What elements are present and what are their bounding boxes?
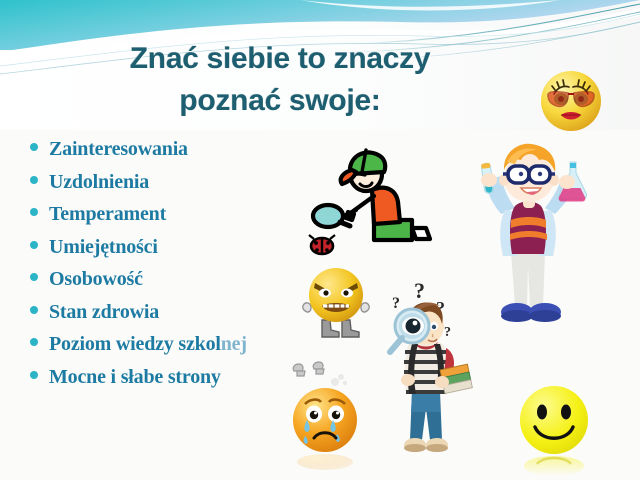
list-item-label: Mocne i słabe strony — [49, 366, 221, 389]
svg-text:?: ? — [444, 325, 451, 340]
list-item: Temperament — [30, 203, 330, 236]
list-item-label: Uzdolnienia — [49, 171, 149, 194]
slide-title-line1: Znać siebie to znaczy — [130, 42, 430, 75]
svg-text:?: ? — [414, 278, 425, 303]
list-item-label: Umiejętności — [49, 236, 158, 259]
list-item-label: Osobowość — [49, 268, 143, 291]
svg-text:?: ? — [392, 295, 400, 312]
list-item: Stan zdrowia — [30, 301, 330, 334]
list-item-label: Poziom wiedzy szkolnej — [49, 333, 247, 356]
list-item: Uzdolnienia — [30, 171, 330, 204]
list-item-label: Stan zdrowia — [49, 301, 159, 324]
happy-face-illustration — [512, 380, 596, 476]
list-item: Umiejętności — [30, 236, 330, 269]
list-item-label: Temperament — [49, 203, 166, 226]
bullet-dot-icon — [30, 338, 38, 346]
slide-title: Znać siebie to znaczy poznać swoje: — [40, 38, 520, 122]
bullet-dot-icon — [30, 371, 38, 379]
bullet-dot-icon — [30, 306, 38, 314]
slide-title-line2: poznać swoje: — [40, 80, 520, 122]
bullet-dot-icon — [30, 143, 38, 151]
sunglasses-face-illustration — [538, 68, 604, 134]
slide-canvas: Znać siebie to znaczy poznać swoje: Zain… — [0, 0, 640, 480]
list-item: Zainteresowania — [30, 138, 330, 171]
question-boy-illustration: ? ? ? ? — [382, 282, 488, 462]
list-item: Osobowość — [30, 268, 330, 301]
list-item: Mocne i słabe strony — [30, 366, 330, 399]
list-item-label: Zainteresowania — [49, 138, 188, 161]
bullet-dot-icon — [30, 208, 38, 216]
bullet-list: Zainteresowania Uzdolnienia Temperament … — [30, 138, 330, 398]
list-item: Poziom wiedzy szkolnej — [30, 333, 330, 366]
bullet-dot-icon — [30, 273, 38, 281]
bullet-dot-icon — [30, 241, 38, 249]
bullet-dot-icon — [30, 176, 38, 184]
